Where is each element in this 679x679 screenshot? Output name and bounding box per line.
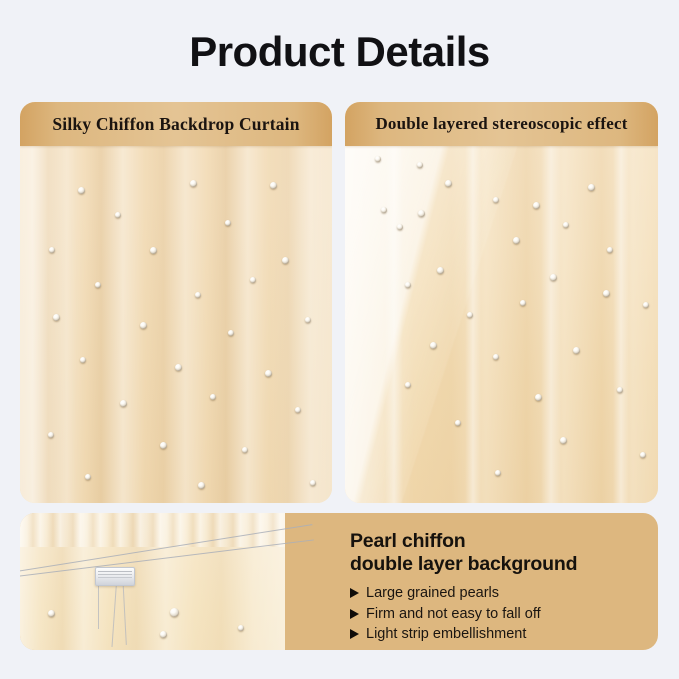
pearl-bead [467,312,473,318]
pearl-bead [437,267,444,274]
panel-banner-left: Silky Chiffon Backdrop Curtain [20,102,332,146]
pearl-bead [238,625,244,631]
list-item-label: Large grained pearls [366,583,499,604]
curtain-fabric-image [20,102,332,503]
pearl-bead [140,322,147,329]
features-heading-line-2: double layer background [350,553,577,576]
pearl-bead [48,432,54,438]
light-strip-photo [20,513,285,650]
list-item-label: Firm and not easy to fall off [366,604,541,625]
list-item: Light strip embellishment [350,624,541,645]
pearl-bead [381,207,387,213]
pearl-bead [282,257,289,264]
fabric-fold [465,102,481,503]
pearl-bead [310,480,316,486]
pearl-bead [160,442,167,449]
pearl-bead [305,317,311,323]
features-heading: Pearl chiffon double layer background [350,530,577,576]
list-item: Large grained pearls [350,583,541,604]
product-details-infographic: Product Details Silky Chiffon Backdrop C [0,0,679,679]
arrow-right-icon [350,629,359,639]
pearl-bead [270,182,277,189]
panel-silky-chiffon: Silky Chiffon Backdrop Curtain [20,102,332,503]
pearl-bead [170,608,179,617]
pearl-bead [80,357,86,363]
pearl-bead [265,370,272,377]
arrow-right-icon [350,609,359,619]
pearl-bead [175,364,182,371]
pearl-bead [160,631,167,638]
pearl-bead [418,210,425,217]
pearl-bead [493,197,499,203]
pearl-bead [607,247,613,253]
pearl-bead [295,407,301,413]
pearl-bead [228,330,234,336]
pearl-bead [573,347,580,354]
pearl-bead [250,277,256,283]
pearl-bead [115,212,121,218]
pearl-bead [150,247,157,254]
pearl-bead [417,162,423,168]
list-item: Firm and not easy to fall off [350,604,541,625]
panel-double-layered: Double layered stereoscopic effect [345,102,658,503]
pearl-bead [640,452,646,458]
pearl-bead [617,387,623,393]
list-item-label: Light strip embellishment [366,624,526,645]
pearl-bead [78,187,85,194]
pearl-bead [495,470,501,476]
pearl-bead [210,394,216,400]
pearl-bead [445,180,452,187]
pearl-bead [493,354,499,360]
pearl-bead [397,224,403,230]
pearl-bead [95,282,101,288]
fabric-fold [541,102,561,503]
page-title: Product Details [0,26,679,78]
pearl-bead [550,274,557,281]
features-list: Large grained pearls Firm and not easy t… [350,583,541,645]
pearl-bead [643,302,649,308]
panel-banner-right: Double layered stereoscopic effect [345,102,658,146]
pearl-bead [195,292,201,298]
panel-banner-right-label: Double layered stereoscopic effect [375,114,627,134]
pearl-bead [560,437,567,444]
pearl-bead [455,420,461,426]
pearl-bead [225,220,231,226]
pearl-bead [563,222,569,228]
pearl-bead [48,610,55,617]
pearl-bead [375,156,381,162]
pearl-bead [588,184,595,191]
pearl-bead [85,474,91,480]
pearl-bead [405,382,411,388]
fabric-fold [613,102,629,503]
pearl-bead [190,180,197,187]
pearl-bead [513,237,520,244]
pearl-bead [49,247,55,253]
arrow-right-icon [350,588,359,598]
panel-banner-left-label: Silky Chiffon Backdrop Curtain [52,114,299,135]
pearl-bead [198,482,205,489]
curtain-ruffle [20,513,285,547]
pearl-bead [53,314,60,321]
pearl-bead [520,300,526,306]
features-text-block: Pearl chiffon double layer background La… [285,513,658,650]
panel-pearl-chiffon-features: Pearl chiffon double layer background La… [20,513,658,650]
battery-clip [95,567,135,586]
pearl-bead [405,282,411,288]
pearl-bead [603,290,610,297]
pearl-bead [242,447,248,453]
pearl-bead [120,400,127,407]
pearl-bead [533,202,540,209]
pearl-bead [430,342,437,349]
pearl-bead [535,394,542,401]
features-heading-line-1: Pearl chiffon [350,530,577,553]
fabric-fold [385,102,403,503]
